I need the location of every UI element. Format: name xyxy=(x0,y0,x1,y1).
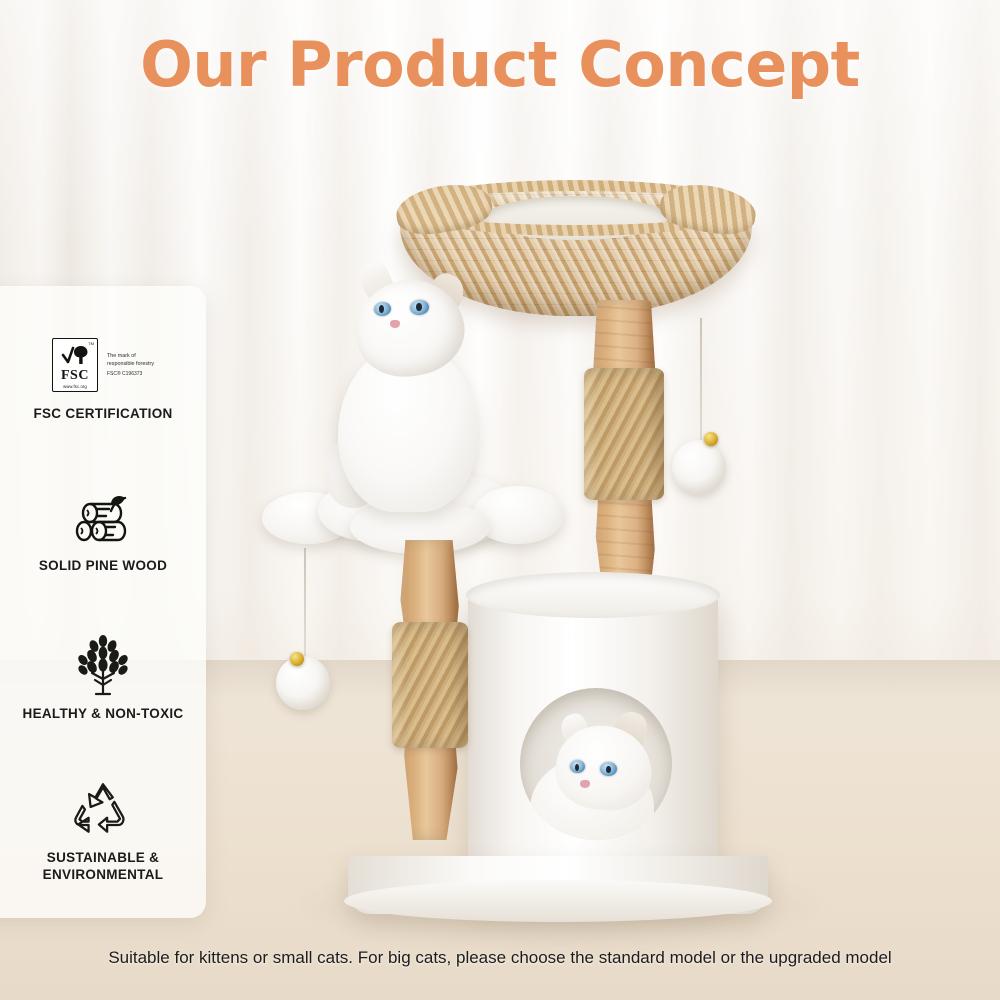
feature-label-line1: SUSTAINABLE & xyxy=(0,849,206,866)
feature-label: FSC CERTIFICATION xyxy=(0,405,206,422)
pom-pom-toy-left xyxy=(276,656,330,710)
fsc-side-line1: The mark of xyxy=(107,353,154,360)
fsc-side-text: The mark of responsible forestry FSC® C1… xyxy=(107,353,154,377)
feature-healthy-non-toxic: HEALTHY & NON-TOXIC xyxy=(0,634,206,722)
sisal-rope-wrap-top xyxy=(584,368,664,500)
condo-entrance-hole xyxy=(520,688,672,840)
feature-panel: TM FSC www.fsc.org The mark of responsib… xyxy=(0,286,206,918)
product-image-stage: Our Product Concept xyxy=(0,0,1000,1000)
sisal-rope-wrap-left xyxy=(392,622,468,748)
kitten-pupil-left xyxy=(575,764,579,771)
fsc-tree-check-icon xyxy=(58,342,92,368)
recycle-icon xyxy=(0,778,206,840)
page-title: Our Product Concept xyxy=(0,28,1000,101)
kitten-pupil-right xyxy=(416,303,422,311)
bell-right xyxy=(704,432,718,446)
fsc-logo-icon: TM FSC www.fsc.org The mark of responsib… xyxy=(0,334,206,396)
bottom-caption: Suitable for kittens or small cats. For … xyxy=(0,948,1000,968)
condo-top-rim xyxy=(466,572,720,618)
kitten-pupil-right xyxy=(606,766,611,773)
fsc-tm-label: TM xyxy=(88,341,94,346)
kitten-pupil-left xyxy=(379,305,384,313)
stacked-logs-icon xyxy=(0,486,206,548)
feature-fsc-certification: TM FSC www.fsc.org The mark of responsib… xyxy=(0,334,206,422)
pom-pom-toy-right xyxy=(672,440,726,494)
feature-label: SOLID PINE WOOD xyxy=(0,557,206,574)
feature-label: HEALTHY & NON-TOXIC xyxy=(0,705,206,722)
fsc-name-label: FSC xyxy=(61,369,89,383)
fsc-url-label: www.fsc.org xyxy=(63,384,87,389)
tree-icon xyxy=(0,634,206,696)
feature-label: SUSTAINABLE & ENVIRONMENTAL xyxy=(0,849,206,884)
fsc-side-line2: responsible forestry xyxy=(107,361,154,368)
toy-string-left xyxy=(304,548,306,658)
fsc-side-code: FSC® C196373 xyxy=(107,371,154,377)
kitten-nose xyxy=(580,780,590,788)
kitten-nose xyxy=(390,320,400,328)
fsc-mark-box: TM FSC www.fsc.org xyxy=(52,338,98,392)
kitten-sitting-on-platform xyxy=(316,250,492,512)
feature-solid-pine-wood: SOLID PINE WOOD xyxy=(0,486,206,574)
bell-left xyxy=(290,652,304,666)
base-front-edge xyxy=(344,880,772,922)
toy-string-right xyxy=(700,318,702,440)
kitten-in-condo xyxy=(528,704,668,840)
feature-sustainable-environmental: SUSTAINABLE & ENVIRONMENTAL xyxy=(0,778,206,884)
feature-label-line2: ENVIRONMENTAL xyxy=(0,866,206,883)
